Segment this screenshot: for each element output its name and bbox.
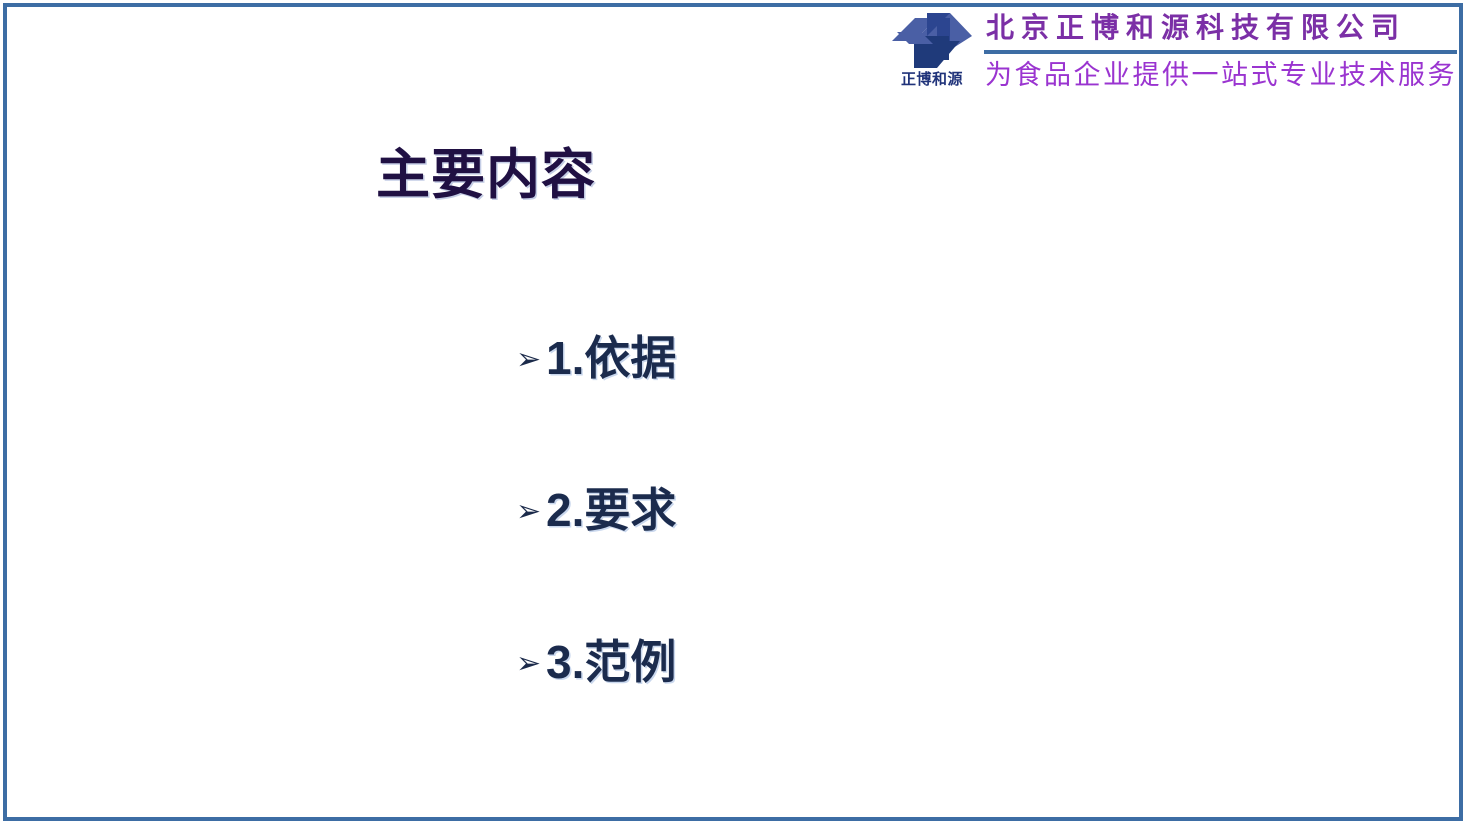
list-item: ➢ 3.范例 [516, 586, 1116, 738]
company-logo: 正博和源 [884, 6, 980, 88]
list-item: ➢ 1.依据 [516, 282, 1116, 434]
content-outline-list: ➢ 1.依据 ➢ 2.要求 ➢ 3.范例 [516, 282, 1116, 738]
presentation-slide: 正博和源 北京正博和源科技有限公司 为食品企业提供一站式专业技术服务 主要内容 … [0, 0, 1466, 824]
logo-caption: 正博和源 [901, 73, 963, 88]
arrowhead-bullet-icon: ➢ [516, 649, 546, 679]
list-item-label: 3.范例 [546, 637, 676, 688]
company-tagline: 为食品企业提供一站式专业技术服务 [984, 57, 1457, 93]
header-divider [984, 50, 1457, 54]
list-item-label: 1.依据 [546, 333, 676, 384]
company-letterhead: 正博和源 北京正博和源科技有限公司 为食品企业提供一站式专业技术服务 [884, 6, 1456, 110]
arrowhead-bullet-icon: ➢ [516, 497, 546, 527]
letterhead-text-block: 北京正博和源科技有限公司 为食品企业提供一站式专业技术服务 [980, 6, 1457, 93]
company-name: 北京正博和源科技有限公司 [984, 8, 1457, 48]
list-item: ➢ 2.要求 [516, 434, 1116, 586]
list-item-label: 2.要求 [546, 485, 676, 536]
arrowhead-bullet-icon: ➢ [516, 345, 546, 375]
page-title: 主要内容 [376, 146, 596, 205]
zhengbo-heyuan-logo-mark [889, 10, 975, 72]
